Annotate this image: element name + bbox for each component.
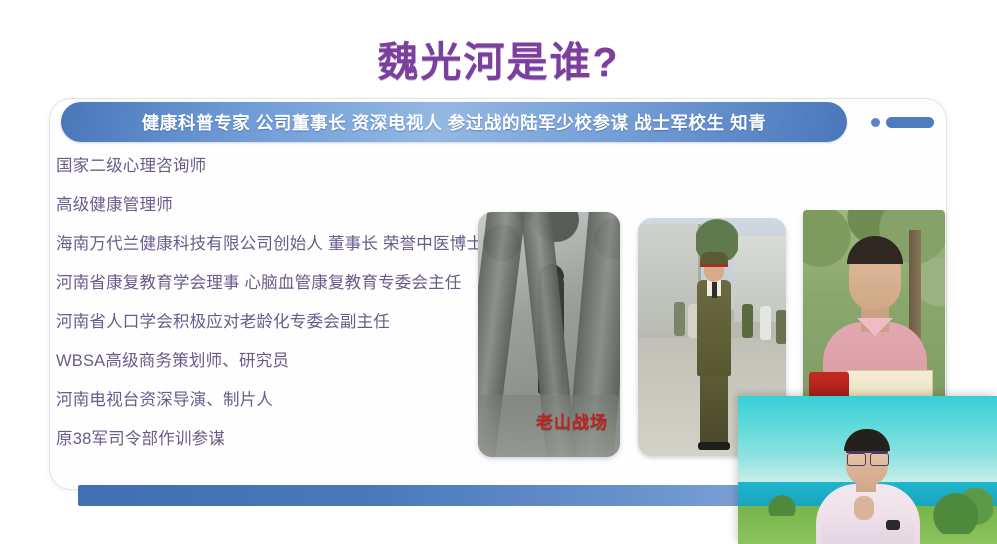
bystander-figure-shape (776, 310, 786, 344)
list-item: 河南电视台资深导演、制片人 (56, 392, 476, 409)
presentation-slide: 魏光河是谁? 健康科普专家 公司董事长 资深电视人 参过战的陆军少校参谋 战士军… (0, 0, 997, 544)
glasses-lens-right (870, 453, 889, 466)
presenter-hand-shape (854, 496, 874, 520)
list-item: 原38军司令部作训参谋 (56, 431, 476, 448)
officer-legs-shape (700, 373, 728, 445)
bystander-figure-shape (760, 306, 771, 340)
list-item: 高级健康管理师 (56, 197, 476, 214)
banner-dash-decoration (886, 117, 934, 128)
bystander-figure-shape (674, 302, 685, 336)
battlefield-photo-caption: 老山战场 (536, 408, 608, 433)
bystander-figure-shape (742, 304, 753, 338)
list-item: 河南省康复教育学会理事 心脑血管康复教育专委会主任 (56, 275, 476, 292)
list-item: 河南省人口学会积极应对老龄化专委会副主任 (56, 314, 476, 331)
list-item: WBSA高级商务策划师、研究员 (56, 353, 476, 370)
officer-shoes-shape (698, 442, 730, 450)
banner-dot-decoration (871, 118, 880, 127)
officer-tie-shape (712, 282, 717, 298)
roles-banner: 健康科普专家 公司董事长 资深电视人 参过战的陆军少校参谋 战士军校生 知青 (61, 102, 847, 142)
webcam-palm-shape (768, 492, 796, 516)
list-item: 国家二级心理咨询师 (56, 158, 476, 175)
roles-banner-text: 健康科普专家 公司董事长 资深电视人 参过战的陆军少校参谋 战士军校生 知青 (142, 110, 767, 135)
webcam-bush-shape (931, 488, 993, 534)
page-title: 魏光河是谁? (0, 28, 997, 88)
credential-list: 国家二级心理咨询师 高级健康管理师 海南万代兰健康科技有限公司创始人 董事长 荣… (56, 158, 476, 470)
glasses-lens-left (847, 453, 866, 466)
officer-cap-shape (700, 252, 728, 267)
presenter-glasses-shape (846, 451, 888, 464)
portrait-certificate-photo (803, 210, 945, 400)
list-item: 海南万代兰健康科技有限公司创始人 董事长 荣誉中医博士 (56, 236, 476, 253)
presenter-webcam-overlay[interactable] (738, 396, 997, 544)
presenter-watch-shape (886, 520, 900, 530)
